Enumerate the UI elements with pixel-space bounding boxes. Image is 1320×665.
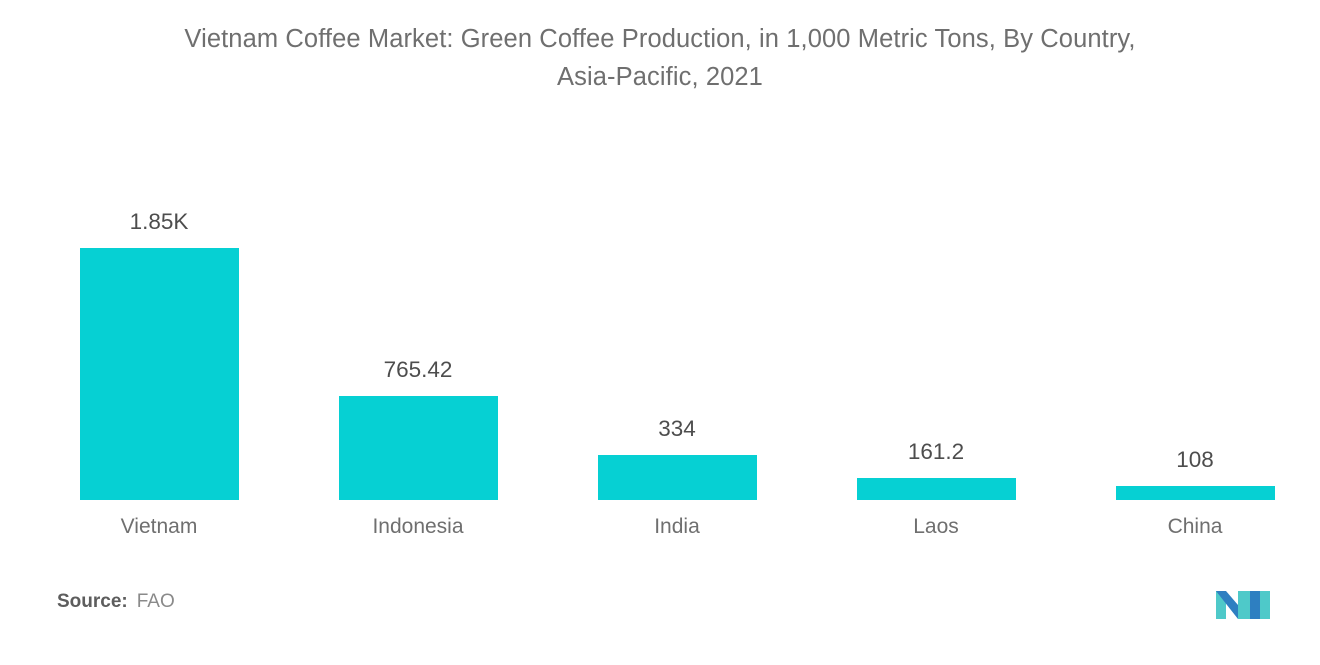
bar-group-vietnam: 1.85K Vietnam — [40, 150, 278, 550]
chart-title: Vietnam Coffee Market: Green Coffee Prod… — [60, 20, 1260, 96]
bar-column-laos: 161.2 — [817, 198, 1055, 500]
source-label: Source: — [57, 591, 128, 612]
bar-rect-indonesia[interactable] — [339, 396, 498, 500]
bar-value-label-india: 334 — [658, 416, 696, 442]
category-label-laos: Laos — [817, 514, 1055, 540]
bar-value-label-laos: 161.2 — [908, 439, 964, 465]
mordor-intelligence-logo — [1216, 583, 1278, 623]
category-label-vietnam: Vietnam — [40, 514, 278, 540]
bar-chart-plot-area: 1.85K Vietnam 765.42 Indonesia 334 India… — [40, 150, 1280, 550]
bar-rect-laos[interactable] — [857, 478, 1016, 500]
bar-column-india: 334 — [558, 198, 796, 500]
bar-value-label-indonesia: 765.42 — [384, 357, 453, 383]
bar-rect-china[interactable] — [1116, 486, 1275, 500]
bar-column-indonesia: 765.42 — [299, 198, 537, 500]
category-label-china: China — [1076, 514, 1314, 540]
category-label-indonesia: Indonesia — [299, 514, 537, 540]
source-note: Source:FAO — [57, 589, 175, 615]
bar-rect-india[interactable] — [598, 455, 757, 500]
bar-value-label-vietnam: 1.85K — [130, 209, 189, 235]
chart-title-line-2: Asia-Pacific, 2021 — [60, 58, 1260, 96]
bar-column-china: 108 — [1076, 198, 1314, 500]
chart-title-line-1: Vietnam Coffee Market: Green Coffee Prod… — [60, 20, 1260, 58]
bar-rect-vietnam[interactable] — [80, 248, 239, 500]
bar-group-china: 108 China — [1076, 150, 1314, 550]
chart-footer: Source:FAO — [0, 575, 1320, 665]
bar-group-laos: 161.2 Laos — [817, 150, 1055, 550]
bar-column-vietnam: 1.85K — [40, 198, 278, 500]
category-label-india: India — [558, 514, 796, 540]
bar-group-indonesia: 765.42 Indonesia — [299, 150, 537, 550]
chart-card: Vietnam Coffee Market: Green Coffee Prod… — [0, 0, 1320, 665]
bar-group-india: 334 India — [558, 150, 796, 550]
source-value: FAO — [137, 591, 175, 612]
bar-value-label-china: 108 — [1176, 447, 1214, 473]
